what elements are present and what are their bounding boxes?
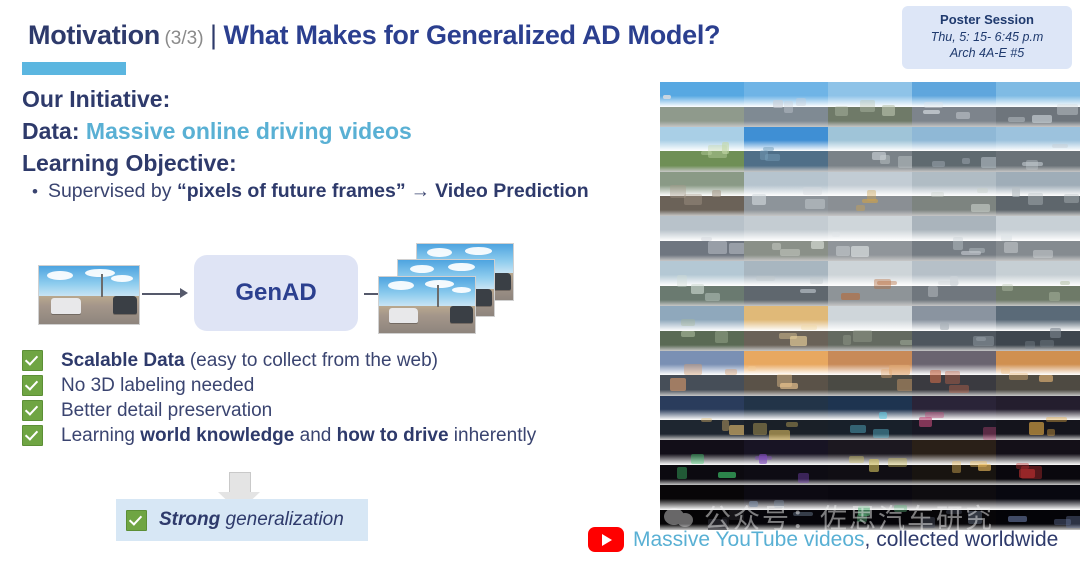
thumbnail-detail <box>753 423 767 434</box>
thumbnail-detail <box>843 335 851 344</box>
thumbnail-detail <box>1025 341 1035 349</box>
thumbnail-detail <box>851 246 869 256</box>
thumbnail-detail <box>677 275 687 287</box>
thumbnail-detail <box>1026 160 1038 169</box>
thumbnail-detail <box>981 157 996 168</box>
thumbnail-detail <box>952 461 961 473</box>
data-value: Massive online driving videos <box>86 118 412 144</box>
thumbnail-detail <box>755 456 772 460</box>
thumbnail-detail <box>784 101 793 113</box>
thumbnail-detail <box>774 500 785 509</box>
checklist-bold-text: Scalable Data <box>61 350 185 371</box>
grid-thumbnail <box>996 351 1080 396</box>
checklist-item: Scalable Data (easy to collect from the … <box>22 348 536 373</box>
thumbnail-detail <box>924 102 942 108</box>
thumbnail-ground <box>744 465 828 485</box>
grid-thumbnail <box>660 172 744 217</box>
thumbnail-detail <box>928 286 937 297</box>
grid-thumbnail <box>660 216 744 261</box>
thumbnail-detail <box>857 514 867 522</box>
grid-thumbnail <box>996 261 1080 306</box>
thumbnail-sky <box>912 485 996 510</box>
grid-thumbnail <box>744 351 828 396</box>
arrow-head-in-icon <box>180 288 188 298</box>
generalization-callout-text: Strong generalization <box>159 509 344 531</box>
grid-thumbnail <box>912 127 996 172</box>
checklist-plain-text: No 3D labeling needed <box>61 375 254 396</box>
grid-thumbnail <box>996 306 1080 351</box>
thumbnail-detail <box>779 333 797 339</box>
data-line: Data: Massive online driving videos <box>22 118 412 145</box>
thumbnail-detail <box>786 422 798 427</box>
thumbnail-detail <box>956 112 970 120</box>
thumbnail-detail <box>925 412 944 419</box>
thumbnail-detail <box>670 185 686 198</box>
initiative-heading: Our Initiative: <box>22 86 170 113</box>
grid-thumbnail <box>660 306 744 351</box>
poster-session-location: Arch 4A-E #5 <box>908 45 1066 61</box>
thumbnail-detail <box>1033 250 1053 259</box>
grid-thumbnail <box>828 485 912 530</box>
thumbnail-sky <box>996 485 1080 510</box>
thumbnail-ground <box>660 331 744 351</box>
grid-thumbnail <box>660 82 744 127</box>
thumbnail-detail <box>976 337 986 341</box>
thumbnail-detail <box>1046 417 1067 422</box>
thumbnail-detail <box>805 199 825 208</box>
callout-bold-text: Strong <box>159 509 220 530</box>
grid-thumbnail <box>660 485 744 530</box>
thumbnail-sky <box>660 396 744 421</box>
grid-thumbnail <box>996 396 1080 441</box>
thumbnail-detail <box>1028 193 1042 205</box>
thumbnail-detail <box>850 425 866 434</box>
genad-model-box: GenAD <box>194 255 358 331</box>
checkmark-icon <box>22 350 43 371</box>
thumbnail-detail <box>897 379 912 390</box>
grid-thumbnail <box>912 351 996 396</box>
checklist-item-text: No 3D labeling needed <box>61 375 254 397</box>
thumbnail-detail <box>803 187 821 195</box>
thumbnail-detail <box>801 325 817 330</box>
caption-highlight-text: Massive YouTube videos <box>633 528 865 551</box>
thumbnail-detail <box>677 467 687 479</box>
checkmark-icon <box>22 400 43 421</box>
checklist-item-text: Learning world knowledge and how to driv… <box>61 425 536 447</box>
thumbnail-detail <box>798 473 810 483</box>
thumbnail-detail <box>938 281 959 285</box>
title-main-text: Motivation <box>28 20 160 50</box>
cloud-shape <box>452 287 471 293</box>
thumbnail-detail <box>793 512 813 516</box>
thumbnail-detail <box>752 194 765 204</box>
thumbnail-detail <box>841 293 860 300</box>
thumbnail-detail <box>712 190 721 198</box>
thumbnail-sky <box>996 396 1080 421</box>
car-shape <box>51 298 81 313</box>
thumbnail-detail <box>800 289 815 293</box>
thumbnail-detail <box>1032 115 1051 123</box>
title-subject-text: What Makes for Generalized AD Model? <box>223 20 720 50</box>
thumbnail-detail <box>962 158 970 164</box>
thumbnail-sky <box>744 216 828 241</box>
grid-thumbnail <box>828 396 912 441</box>
thumbnail-detail <box>765 154 780 162</box>
thumbnail-detail <box>977 188 988 193</box>
thumbnail-detail <box>796 98 806 107</box>
checklist-item-text: Better detail preservation <box>61 400 272 422</box>
grid-thumbnail <box>828 440 912 485</box>
thumbnail-detail <box>1008 117 1026 122</box>
predicted-future-frames <box>378 243 518 343</box>
grid-thumbnail <box>660 261 744 306</box>
thumbnail-detail <box>1064 194 1079 203</box>
cloud-shape <box>47 271 73 280</box>
checklist-plain-text: Better detail preservation <box>61 400 272 421</box>
thumbnail-detail <box>835 106 848 115</box>
grid-thumbnail <box>912 216 996 261</box>
grid-thumbnail <box>744 172 828 217</box>
thumbnail-ground <box>912 286 996 306</box>
thumbnail-detail <box>945 371 960 384</box>
thumbnail-detail <box>1049 292 1060 301</box>
grid-thumbnail <box>912 440 996 485</box>
checklist-plain-text: inherently <box>449 425 537 446</box>
checklist-bold-text: how to drive <box>337 425 449 446</box>
bullet-quoted-text: “pixels of future frames” <box>177 180 406 202</box>
thumbnail-detail <box>1002 284 1013 292</box>
checkmark-icon <box>22 425 43 446</box>
thumbnail-detail <box>701 151 712 155</box>
thumbnail-detail <box>919 417 932 426</box>
generalization-callout: Strong generalization <box>116 499 368 541</box>
grid-thumbnail <box>744 261 828 306</box>
thumbnail-detail <box>681 331 695 338</box>
title-divider: | <box>210 20 217 50</box>
thumbnail-detail <box>810 277 823 284</box>
objective-heading: Learning Objective: <box>22 150 237 177</box>
thumbnail-detail <box>856 205 865 212</box>
grid-thumbnail <box>828 82 912 127</box>
thumbnail-detail <box>691 284 704 294</box>
grid-thumbnail <box>996 82 1080 127</box>
thumbnail-detail <box>923 110 940 114</box>
thumbnail-sky <box>744 351 828 376</box>
bullet-lead-text: Supervised by <box>48 180 172 202</box>
thumbnail-detail <box>1012 187 1020 197</box>
checklist-bold-text: world knowledge <box>140 425 294 446</box>
grid-thumbnail <box>912 172 996 217</box>
grid-thumbnail <box>744 82 828 127</box>
thumbnail-detail <box>930 370 941 383</box>
title-section-count: (3/3) <box>164 28 203 49</box>
thumbnail-detail <box>715 331 728 343</box>
grid-thumbnail <box>744 216 828 261</box>
thumbnail-detail <box>1047 429 1055 436</box>
checklist-item-text: Scalable Data (easy to collect from the … <box>61 350 438 372</box>
bullet-dot-icon: • <box>32 182 38 201</box>
thumbnail-detail <box>832 232 840 237</box>
thumbnail-detail <box>900 340 912 344</box>
thumbnail-detail <box>949 385 969 394</box>
grid-thumbnail <box>828 172 912 217</box>
thumbnail-detail <box>946 510 962 514</box>
input-driving-frame <box>38 265 140 325</box>
grid-thumbnail <box>660 396 744 441</box>
grid-thumbnail <box>828 351 912 396</box>
thumbnail-detail <box>874 279 891 289</box>
thumbnail-detail <box>898 156 912 168</box>
thumbnail-sky <box>912 306 996 331</box>
thumbnail-sky <box>660 82 744 107</box>
arrow-line-in <box>142 293 180 295</box>
poster-session-heading: Poster Session <box>908 12 1066 29</box>
page-title: Motivation (3/3) | What Makes for Genera… <box>28 20 720 51</box>
thumbnail-detail <box>749 501 758 507</box>
thumbnail-sky <box>996 440 1080 465</box>
thumbnail-detail <box>873 429 889 438</box>
thumbnail-detail <box>725 369 737 375</box>
thumbnail-detail <box>729 510 744 520</box>
objective-bullet: •Supervised by “pixels of future frames”… <box>32 180 589 203</box>
thumbnail-detail <box>953 237 963 250</box>
benefits-checklist: Scalable Data (easy to collect from the … <box>22 348 536 448</box>
title-accent-bar <box>22 62 126 75</box>
thumbnail-detail <box>1052 144 1067 148</box>
thumbnail-detail <box>1029 422 1044 435</box>
thumbnail-ground <box>744 151 828 171</box>
thumbnail-sky <box>744 440 828 465</box>
grid-thumbnail <box>828 127 912 172</box>
grid-thumbnail <box>744 485 828 530</box>
thumbnail-detail <box>970 461 987 467</box>
thumbnail-sky <box>828 306 912 331</box>
thumbnail-sky <box>996 127 1080 152</box>
thumbnail-detail <box>969 248 985 253</box>
thumbnail-detail <box>684 364 702 375</box>
grid-thumbnail <box>912 261 996 306</box>
grid-thumbnail <box>660 440 744 485</box>
thumbnail-detail <box>860 100 874 112</box>
thumbnail-detail <box>811 241 824 249</box>
thumbnail-detail <box>1009 373 1028 380</box>
right-arrow-icon: → <box>411 180 431 202</box>
thumbnail-detail <box>894 505 907 512</box>
grid-thumbnail <box>660 351 744 396</box>
thumbnail-detail <box>780 249 799 257</box>
thumbnail-sky <box>912 127 996 152</box>
grid-thumbnail <box>828 261 912 306</box>
car-shape <box>450 306 473 323</box>
thumbnail-detail <box>722 420 730 431</box>
checklist-plain-text: and <box>294 425 336 446</box>
predicted-frame <box>378 276 476 334</box>
thumbnail-detail <box>769 430 789 441</box>
grid-thumbnail <box>828 306 912 351</box>
pole-shape <box>437 285 439 307</box>
thumbnail-detail <box>756 276 774 282</box>
grid-thumbnail <box>744 306 828 351</box>
thumbnail-ground <box>828 420 912 440</box>
grid-thumbnail <box>912 396 996 441</box>
thumbnail-detail <box>773 100 783 108</box>
grid-thumbnail <box>996 440 1080 485</box>
grid-thumbnail <box>744 396 828 441</box>
thumbnail-sky <box>828 261 912 286</box>
thumbnail-sky <box>996 82 1080 107</box>
thumbnail-detail <box>708 241 727 254</box>
thumbnail-sky <box>828 216 912 241</box>
thumbnail-detail <box>849 456 864 464</box>
thumbnail-detail <box>1001 234 1011 241</box>
thumbnail-sky <box>996 306 1080 331</box>
thumbnail-sky <box>660 306 744 331</box>
thumbnail-detail <box>1050 328 1062 338</box>
grid-thumbnail <box>996 216 1080 261</box>
thumbnail-detail <box>880 155 890 164</box>
thumbnail-detail <box>867 190 875 201</box>
callout-rest-text: generalization <box>220 509 344 530</box>
thumbnail-detail <box>971 204 989 212</box>
checklist-plain-text: (easy to collect from the web) <box>185 350 438 371</box>
checklist-item: Better detail preservation <box>22 398 536 423</box>
thumbnail-sky <box>660 127 744 152</box>
thumbnail-detail <box>772 243 781 250</box>
caption-rest-text: , collected worldwide <box>865 528 1059 551</box>
thumbnail-detail <box>1054 519 1071 525</box>
thumbnail-detail <box>681 319 695 326</box>
thumbnail-detail <box>888 458 907 467</box>
thumbnail-sky <box>828 396 912 421</box>
thumbnail-detail <box>1060 281 1070 285</box>
thumbnail-detail <box>879 412 887 419</box>
thumbnail-detail <box>1016 463 1029 469</box>
thumbnail-detail <box>691 454 704 464</box>
cloud-shape <box>85 269 115 277</box>
thumbnail-detail <box>1040 340 1054 348</box>
grid-thumbnail <box>744 440 828 485</box>
thumbnail-detail <box>684 194 702 205</box>
thumbnail-sky <box>744 396 828 421</box>
checklist-item: No 3D labeling needed <box>22 373 536 398</box>
thumbnail-sky <box>660 261 744 286</box>
thumbnail-detail <box>940 323 949 330</box>
thumbnail-detail <box>777 374 792 387</box>
thumbnail-detail <box>836 246 849 256</box>
thumbnail-detail <box>983 427 996 440</box>
thumbnail-sky <box>828 127 912 152</box>
thumbnail-sky <box>660 485 744 510</box>
driving-scene-thumbnail-grid <box>660 82 1080 530</box>
poster-session-badge: Poster Session Thu, 5: 15- 6:45 p.m Arch… <box>902 6 1072 69</box>
grid-thumbnail <box>912 306 996 351</box>
thumbnail-detail <box>718 472 736 479</box>
grid-thumbnail <box>912 82 996 127</box>
car-shape <box>389 308 419 323</box>
poster-session-time: Thu, 5: 15- 6:45 p.m <box>908 29 1066 45</box>
grid-thumbnail <box>744 127 828 172</box>
thumbnail-detail <box>729 243 744 253</box>
thumbnail-detail <box>882 105 895 116</box>
thumbnail-detail <box>1004 242 1017 252</box>
checkmark-icon <box>22 375 43 396</box>
grid-thumbnail <box>660 127 744 172</box>
thumbnail-detail <box>932 161 945 167</box>
car-shape <box>113 296 137 313</box>
pole-shape <box>101 274 103 297</box>
thumbnail-detail <box>701 237 712 241</box>
checklist-item: Learning world knowledge and how to driv… <box>22 423 536 448</box>
thumbnail-detail <box>1039 375 1052 382</box>
grid-thumbnail <box>996 485 1080 530</box>
thumbnail-detail <box>881 369 892 378</box>
cloud-shape <box>448 263 475 271</box>
grid-thumbnail <box>828 216 912 261</box>
bullet-result-text: Video Prediction <box>435 180 589 202</box>
thumbnail-ground <box>996 331 1080 351</box>
thumbnail-ground <box>660 107 744 127</box>
genad-model-label: GenAD <box>235 279 316 307</box>
thumbnail-detail <box>889 365 910 375</box>
thumbnail-detail <box>869 459 879 472</box>
thumbnail-detail <box>670 378 686 391</box>
thumbnail-sky <box>744 127 828 152</box>
thumbnail-detail <box>1057 104 1078 114</box>
thumbnail-detail <box>968 511 982 524</box>
thumbnail-detail <box>931 192 944 197</box>
thumbnail-detail <box>729 425 744 435</box>
thumbnail-detail <box>1008 516 1026 522</box>
checkmark-icon <box>126 510 147 531</box>
youtube-icon <box>588 527 624 552</box>
grid-caption-text: Massive YouTube videos, collected worldw… <box>633 528 1058 552</box>
data-label: Data: <box>22 118 80 144</box>
thumbnail-detail <box>705 293 720 302</box>
thumbnail-detail <box>853 330 872 342</box>
grid-thumbnail <box>996 127 1080 172</box>
genad-pipeline-diagram: GenAD <box>38 243 498 343</box>
checklist-plain-text: Learning <box>61 425 140 446</box>
grid-caption: Massive YouTube videos, collected worldw… <box>588 527 1058 552</box>
grid-thumbnail <box>912 485 996 530</box>
grid-thumbnail <box>996 172 1080 217</box>
thumbnail-detail <box>701 418 712 422</box>
